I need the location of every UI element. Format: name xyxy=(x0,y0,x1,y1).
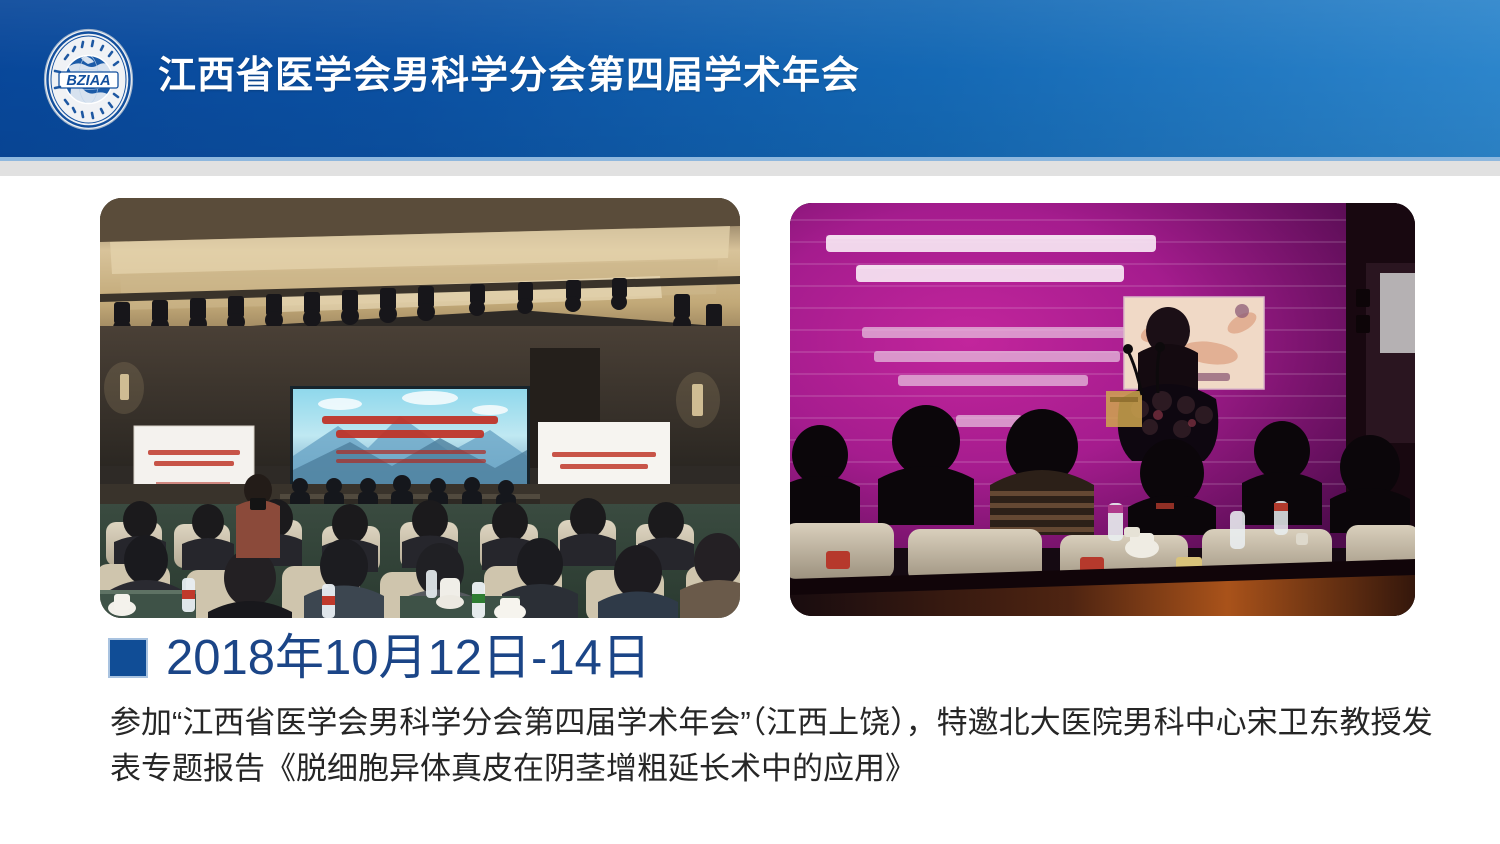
event-description: 参加“江西省医学会男科学分会第四届学术年会”（江西上饶），特邀北大医院男科中心宋… xyxy=(110,700,1440,792)
logo-wordmark: BZIAA xyxy=(66,73,110,89)
page-title: 江西省医学会男科学分会第四届学术年会 xyxy=(158,50,860,102)
event-date: 2018年10月12日-14日 xyxy=(166,632,651,684)
header-gray-strip xyxy=(0,161,1500,176)
lecture-projection-photo xyxy=(790,203,1415,616)
date-row: 2018年10月12日-14日 xyxy=(108,632,651,684)
association-logo-icon: BZIAA xyxy=(35,26,142,133)
conference-hall-photo xyxy=(100,198,740,618)
date-bullet-square xyxy=(108,638,148,678)
